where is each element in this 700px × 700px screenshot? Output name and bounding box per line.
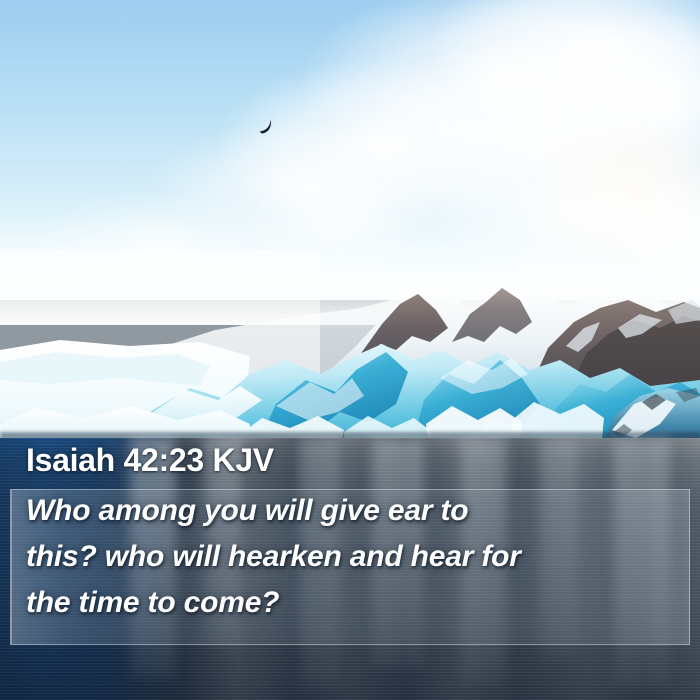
verse-line: Who among you will give ear to: [26, 488, 674, 534]
verse-text-block: Isaiah 42:23 KJV Who among you will give…: [0, 440, 700, 626]
verse-body: Who among you will give ear to this? who…: [26, 488, 674, 626]
verse-line: this? who will hearken and hear for: [26, 534, 674, 580]
verse-line: the time to come?: [26, 580, 674, 626]
flying-bird-icon: [258, 118, 280, 136]
verse-reference: Isaiah 42:23 KJV: [26, 440, 674, 480]
verse-image-card: Isaiah 42:23 KJV Who among you will give…: [0, 0, 700, 700]
